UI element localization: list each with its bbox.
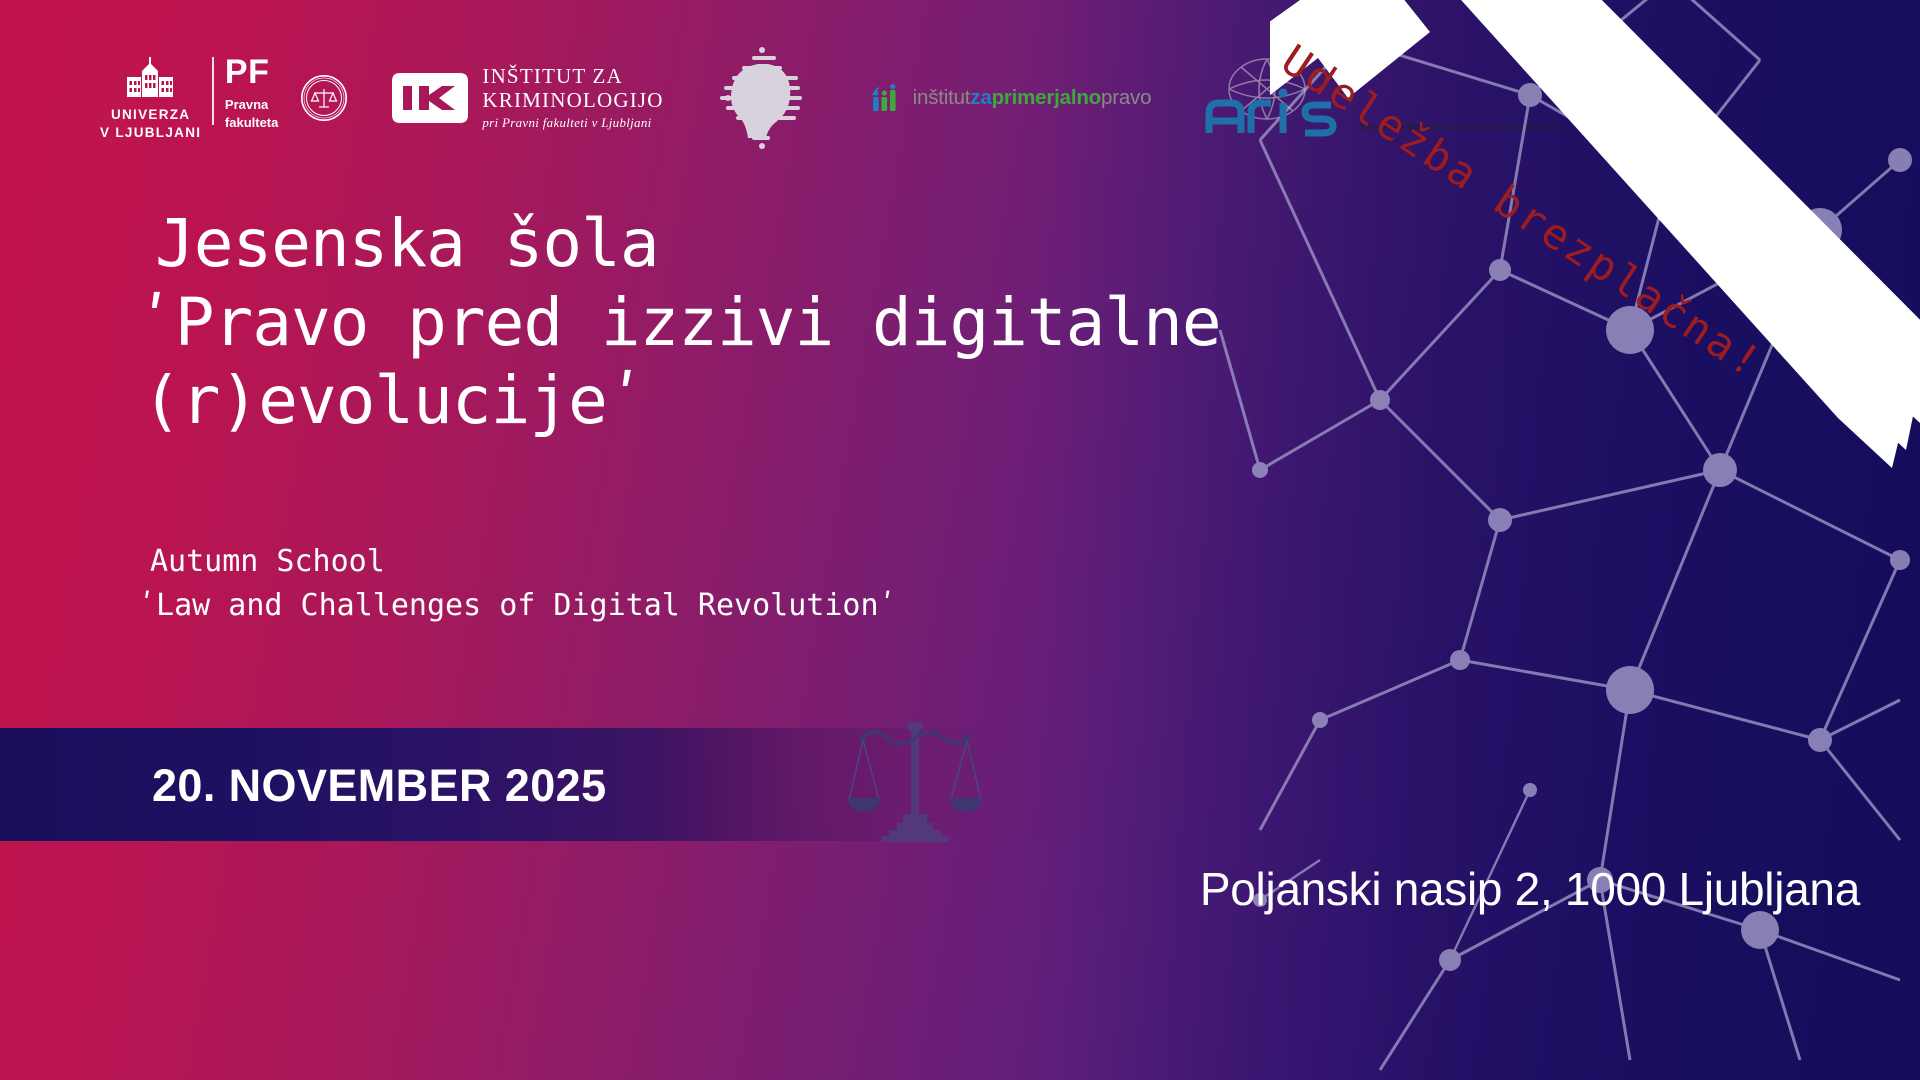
subtitle-line-1: Autumn School bbox=[150, 540, 897, 584]
ipp-part-2: za bbox=[970, 86, 991, 109]
subtitle-line-2: ʹLaw and Challenges of Digital Revolutio… bbox=[138, 584, 897, 628]
headline-line-1: Jesenska šola bbox=[155, 205, 1221, 284]
ipp-part-3: primerjalno bbox=[992, 86, 1101, 109]
headline-line-2: ʹPravo pred izzivi digitalne bbox=[136, 284, 1221, 363]
logo-ai-brain bbox=[716, 46, 808, 150]
ik-line3: pri Pravni fakulteti v Ljubljani bbox=[482, 115, 663, 131]
venue-address: Poljanski nasip 2, 1000 Ljubljana bbox=[1200, 862, 1860, 916]
faculty-seal-icon bbox=[300, 74, 348, 122]
ipp-part-1: inštitut bbox=[913, 86, 971, 109]
logo-divider bbox=[212, 57, 214, 125]
logo-university-of-ljubljana: UNIVERZA V LJUBLJANI PF Pravna fakulteta bbox=[100, 55, 278, 142]
logo-institute-of-criminology: INŠTITUT ZA KRIMINOLOGIJO pri Pravni fak… bbox=[392, 65, 663, 131]
headline-block: Jesenska šola ʹPravo pred izzivi digital… bbox=[140, 205, 1221, 441]
logo-faculty-seal bbox=[300, 74, 348, 122]
brain-circuit-icon bbox=[716, 46, 808, 150]
event-date: 20. NOVEMBER 2025 bbox=[152, 760, 607, 812]
logo-institute-comparative-law: inštitutzaprimerjalnopravo bbox=[870, 84, 1152, 112]
ipp-wordmark: inštitutzaprimerjalnopravo bbox=[913, 86, 1152, 110]
logo-ul-line1: UNIVERZA bbox=[100, 106, 201, 124]
scales-of-justice-icon bbox=[845, 714, 985, 844]
ipp-bars-icon bbox=[870, 84, 904, 112]
ul-building-icon bbox=[122, 55, 180, 99]
logo-pf-sub1: Pravna bbox=[225, 96, 278, 114]
logo-pf-mark: PF bbox=[225, 57, 278, 88]
logo-pf-sub2: fakulteta bbox=[225, 114, 278, 132]
network-graphic bbox=[1200, 0, 1920, 1080]
ipp-part-4: pravo bbox=[1101, 86, 1151, 109]
subtitle-block: Autumn School ʹLaw and Challenges of Dig… bbox=[138, 540, 897, 627]
event-poster: UNIVERZA V LJUBLJANI PF Pravna fakulteta bbox=[0, 0, 1920, 1080]
ik-mark-icon bbox=[392, 73, 468, 123]
sponsor-logo-strip: UNIVERZA V LJUBLJANI PF Pravna fakulteta bbox=[0, 44, 1920, 152]
ik-line1: INŠTITUT ZA bbox=[482, 65, 663, 89]
headline-line-3: (r)evolucijeʹ bbox=[142, 362, 1221, 441]
ik-line2: KRIMINOLOGIJO bbox=[482, 89, 663, 113]
logo-ul-line2: V LJUBLJANI bbox=[100, 124, 201, 142]
